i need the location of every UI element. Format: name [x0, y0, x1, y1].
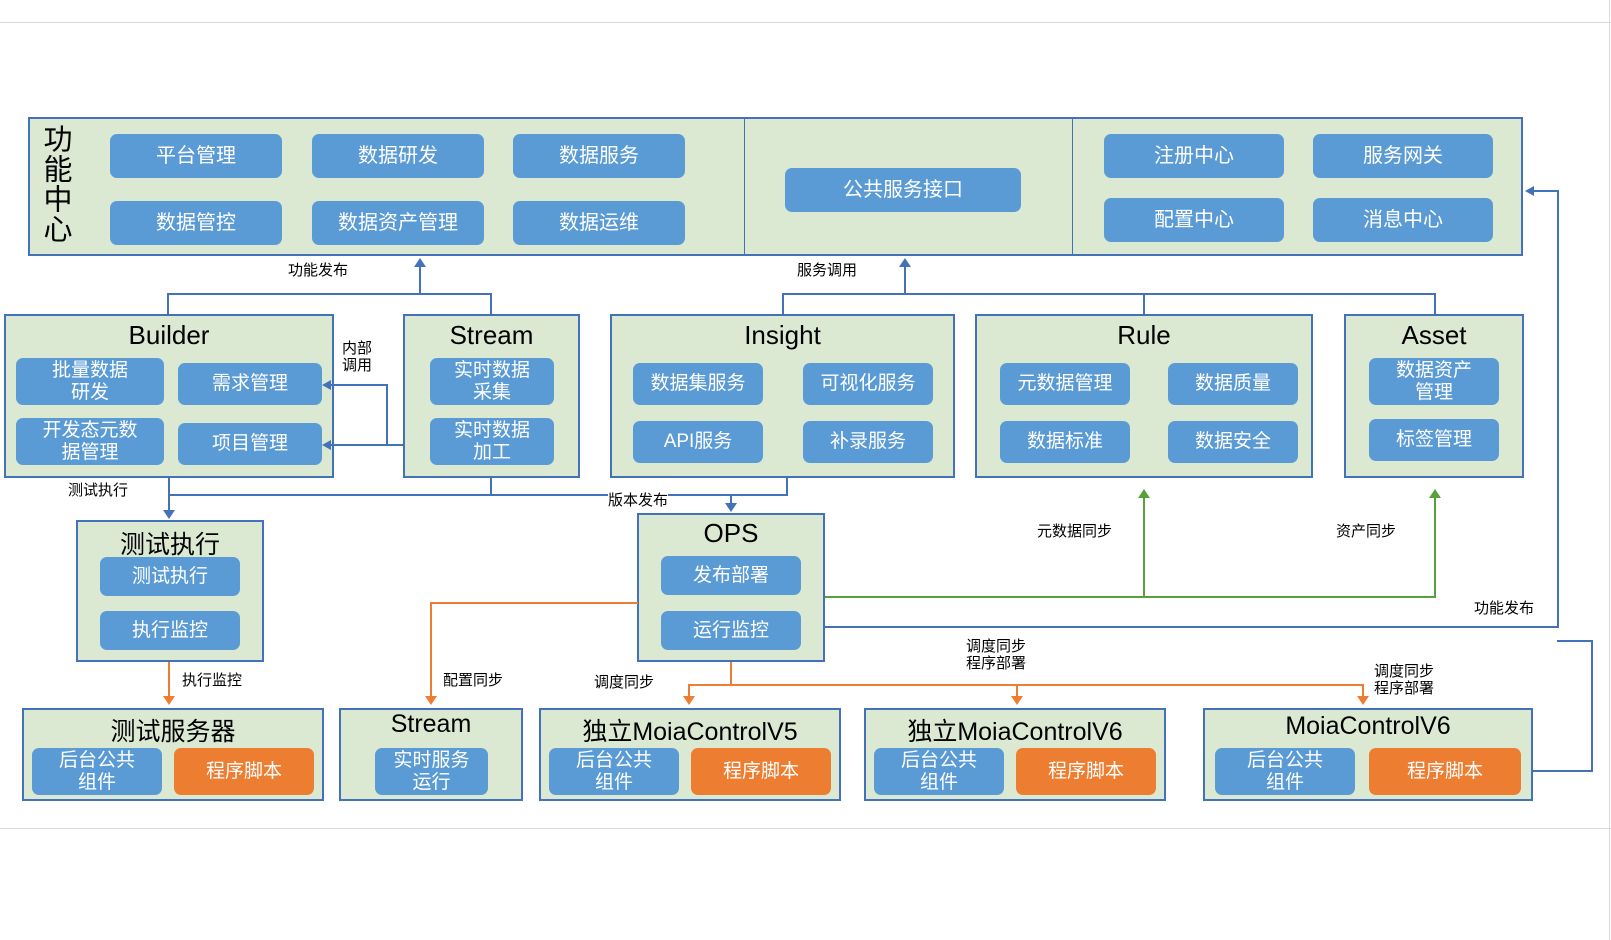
arrow-test-exec-down: [163, 510, 175, 519]
arrow-sched-v5-down: [683, 696, 695, 705]
label-version-publish: 版本发布: [608, 492, 668, 509]
chip-platform-management[interactable]: 平台管理: [110, 134, 282, 178]
line-internal-call-h2: [330, 444, 387, 446]
function-center-divider-1: [744, 119, 745, 254]
chip-registry-center[interactable]: 注册中心: [1104, 134, 1284, 178]
arrow-exec-monitor-down: [163, 696, 175, 705]
chip-data-standard[interactable]: 数据标准: [1000, 421, 1130, 463]
line-rule-up: [1143, 293, 1145, 316]
arrow-asset-sync-up: [1429, 489, 1441, 498]
arrow-service-call-up: [899, 258, 911, 267]
line-feature-right-h: [825, 626, 1559, 628]
chip-realtime-data-processing[interactable]: 实时数据 加工: [430, 418, 554, 465]
line-builder-up: [167, 293, 169, 316]
chip-service-gateway[interactable]: 服务网关: [1313, 134, 1493, 178]
line-metadata-sync-h: [825, 596, 1145, 598]
label-asset-sync: 资产同步: [1336, 523, 1396, 540]
label-metadata-sync: 元数据同步: [1037, 523, 1112, 540]
label-schedule-sync: 调度同步: [594, 674, 654, 691]
chip-data-asset-mgmt[interactable]: 数据资产 管理: [1369, 358, 1499, 405]
chip-metadata-management[interactable]: 元数据管理: [1000, 363, 1130, 405]
line-insight-up: [782, 293, 784, 316]
arrow-feature-publish-right: [1525, 186, 1534, 196]
chip-v6-program-script[interactable]: 程序脚本: [1369, 748, 1521, 795]
arrow-metadata-sync-up: [1138, 489, 1150, 498]
architecture-diagram: 功能中心 平台管理 数据研发 数据服务 数据管控 数据资产管理 数据运维 公共服…: [0, 0, 1611, 940]
label-config-sync: 配置同步: [443, 672, 503, 689]
line-feature-right-v: [1557, 190, 1559, 627]
arrow-internal-call-2: [322, 440, 331, 450]
chip-test-server-program-script[interactable]: 程序脚本: [174, 748, 314, 795]
chip-requirement-management[interactable]: 需求管理: [178, 363, 322, 405]
panel-insight-title: Insight: [610, 320, 955, 351]
line-exec-monitor-v: [168, 662, 170, 698]
panel-asset-title: Asset: [1344, 320, 1524, 351]
chip-data-governance[interactable]: 数据管控: [110, 201, 282, 245]
chip-v6s-backend-components[interactable]: 后台公共 组件: [874, 748, 1004, 795]
label-schedule-sync-deploy-mid: 调度同步 程序部署: [966, 638, 1026, 673]
panel-stream-server-title: Stream: [339, 710, 523, 739]
panel-rule-title: Rule: [975, 320, 1313, 351]
chip-supplement-service[interactable]: 补录服务: [803, 421, 933, 463]
chip-batch-data-development[interactable]: 批量数据 研发: [16, 358, 164, 405]
line-config-sync-h: [430, 602, 638, 604]
line-feature-bus-left: [167, 293, 492, 295]
line-stream-down-to-bus: [490, 478, 492, 495]
arrow-internal-call-1: [322, 380, 331, 390]
chip-v6-backend-components[interactable]: 后台公共 组件: [1215, 748, 1355, 795]
frame-rule-bottom: [0, 828, 1611, 829]
arrow-version-publish-down: [725, 503, 737, 512]
chip-config-center[interactable]: 配置中心: [1104, 198, 1284, 242]
chip-v5-program-script[interactable]: 程序脚本: [691, 748, 831, 795]
frame-rule-right: [1609, 0, 1610, 940]
arrow-config-sync-down: [425, 696, 437, 705]
chip-project-management[interactable]: 项目管理: [178, 423, 322, 465]
chip-release-deploy[interactable]: 发布部署: [661, 556, 801, 595]
line-v6-right-v: [1591, 640, 1593, 772]
label-schedule-sync-deploy-right: 调度同步 程序部署: [1374, 663, 1434, 698]
label-internal-call: 内部 调用: [342, 340, 372, 375]
line-asset-up: [1434, 293, 1436, 316]
panel-test-server-title: 测试服务器: [22, 712, 324, 748]
line-metadata-sync-v: [1143, 496, 1145, 597]
chip-tag-management[interactable]: 标签管理: [1369, 419, 1499, 461]
line-stream-up: [490, 293, 492, 316]
arrow-feature-publish-up: [414, 258, 426, 267]
arrow-sched-v6-down: [1357, 696, 1369, 705]
chip-data-asset-management[interactable]: 数据资产管理: [312, 201, 484, 245]
chip-runtime-monitor[interactable]: 运行监控: [661, 611, 801, 650]
line-sched-bus: [688, 684, 1364, 686]
line-asset-sync-h: [1143, 596, 1436, 598]
label-test-execute: 测试执行: [68, 482, 128, 499]
chip-dev-metadata-management[interactable]: 开发态元数 据管理: [16, 418, 164, 465]
line-insight-down-to-bus: [786, 478, 788, 495]
chip-test-server-backend-components[interactable]: 后台公共 组件: [32, 748, 162, 795]
chip-data-security[interactable]: 数据安全: [1168, 421, 1298, 463]
chip-test-execute[interactable]: 测试执行: [100, 557, 240, 596]
chip-data-development[interactable]: 数据研发: [312, 134, 484, 178]
chip-public-service-interface[interactable]: 公共服务接口: [785, 168, 1021, 212]
line-service-bus: [782, 293, 1436, 295]
function-center-side-label: 功能中心: [40, 124, 69, 244]
line-config-sync-v: [430, 602, 432, 698]
line-feature-right-to-center: [1533, 190, 1559, 192]
chip-dataset-service[interactable]: 数据集服务: [633, 363, 763, 405]
chip-visualization-service[interactable]: 可视化服务: [803, 363, 933, 405]
arrow-sched-v6s-down: [1011, 696, 1023, 705]
line-service-call-riser: [904, 265, 906, 294]
chip-data-operations[interactable]: 数据运维: [513, 201, 685, 245]
chip-v6s-program-script[interactable]: 程序脚本: [1016, 748, 1156, 795]
panel-standalone-moiacontrolv5-title: 独立MoiaControlV5: [539, 712, 841, 748]
line-v6-right-h: [1533, 770, 1593, 772]
chip-data-service[interactable]: 数据服务: [513, 134, 685, 178]
chip-realtime-service-runtime[interactable]: 实时服务 运行: [375, 748, 488, 795]
line-sched-riser: [730, 662, 732, 686]
line-v6-right-join: [1557, 640, 1593, 642]
line-internal-call-h1: [330, 384, 387, 386]
line-internal-call-v: [386, 384, 388, 445]
label-feature-publish-top: 功能发布: [288, 262, 348, 279]
label-feature-publish-right: 功能发布: [1474, 600, 1534, 617]
panel-stream-title: Stream: [403, 320, 580, 351]
function-center-divider-2: [1072, 119, 1073, 254]
panel-builder-title: Builder: [4, 320, 334, 351]
panel-moiacontrolv6-title: MoiaControlV6: [1203, 712, 1533, 741]
chip-message-center[interactable]: 消息中心: [1313, 198, 1493, 242]
line-asset-sync-v: [1434, 496, 1436, 597]
chip-execution-monitor[interactable]: 执行监控: [100, 611, 240, 650]
chip-data-quality[interactable]: 数据质量: [1168, 363, 1298, 405]
line-version-h: [730, 494, 788, 496]
line-feature-publish-riser: [419, 265, 421, 294]
panel-test-execution-title: 测试执行: [76, 525, 264, 561]
panel-standalone-moiacontrolv6-title: 独立MoiaControlV6: [864, 712, 1166, 748]
chip-realtime-data-collection[interactable]: 实时数据 采集: [430, 358, 554, 405]
frame-rule-top: [0, 22, 1611, 23]
label-service-call: 服务调用: [797, 262, 857, 279]
label-exec-monitor: 执行监控: [182, 672, 242, 689]
chip-api-service[interactable]: API服务: [633, 421, 763, 463]
panel-ops-title: OPS: [637, 518, 825, 549]
chip-v5-backend-components[interactable]: 后台公共 组件: [549, 748, 679, 795]
line-version-bus: [168, 494, 788, 496]
line-internal-call-h3: [386, 444, 404, 446]
